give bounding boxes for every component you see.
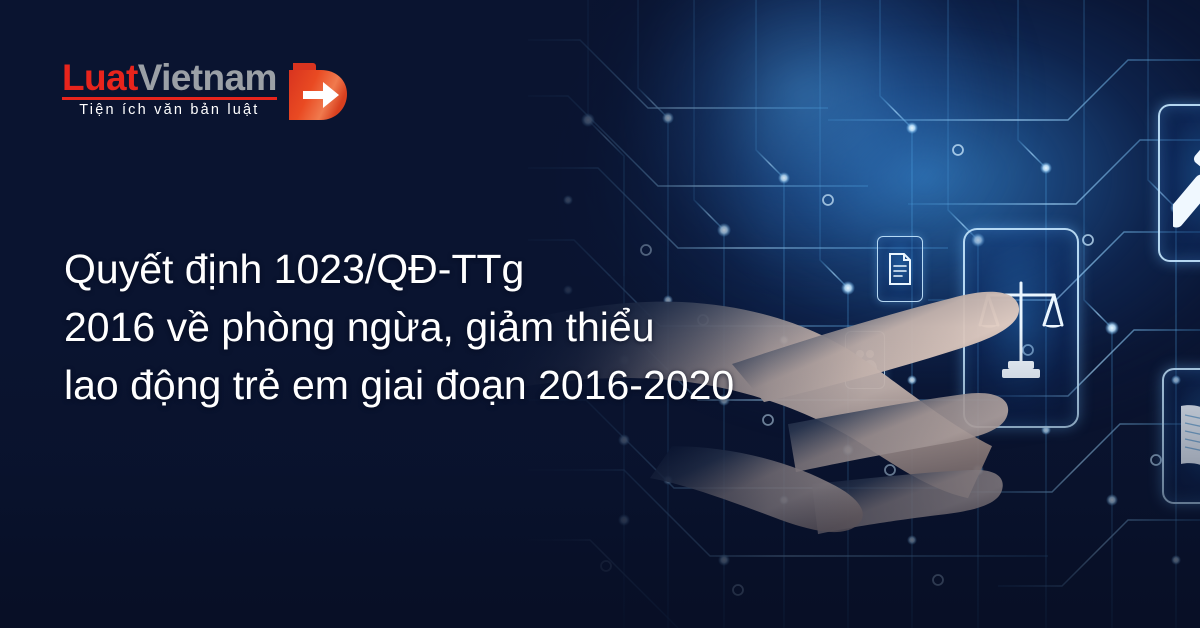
- page-title: Quyết định 1023/QĐ-TTg 2016 về phòng ngừ…: [64, 240, 864, 414]
- logo[interactable]: LuatVietnam Tiện ích văn bản luật: [62, 58, 349, 124]
- banner: LuatVietnam Tiện ích văn bản luật: [0, 0, 1200, 628]
- folder-arrow-right-icon: [287, 60, 349, 124]
- logo-text-block: LuatVietnam Tiện ích văn bản luật: [62, 58, 277, 118]
- logo-tagline: Tiện ích văn bản luật: [62, 102, 277, 118]
- headline-line-2: 2016 về phòng ngừa, giảm thiểu: [64, 298, 864, 356]
- logo-word-secondary: Vietnam: [138, 57, 277, 98]
- headline-line-3: lao động trẻ em giai đoạn 2016-2020: [64, 356, 864, 414]
- headline-line-1: Quyết định 1023/QĐ-TTg: [64, 240, 864, 298]
- logo-word-primary: Luat: [62, 57, 138, 98]
- logo-wordmark: LuatVietnam: [62, 60, 277, 96]
